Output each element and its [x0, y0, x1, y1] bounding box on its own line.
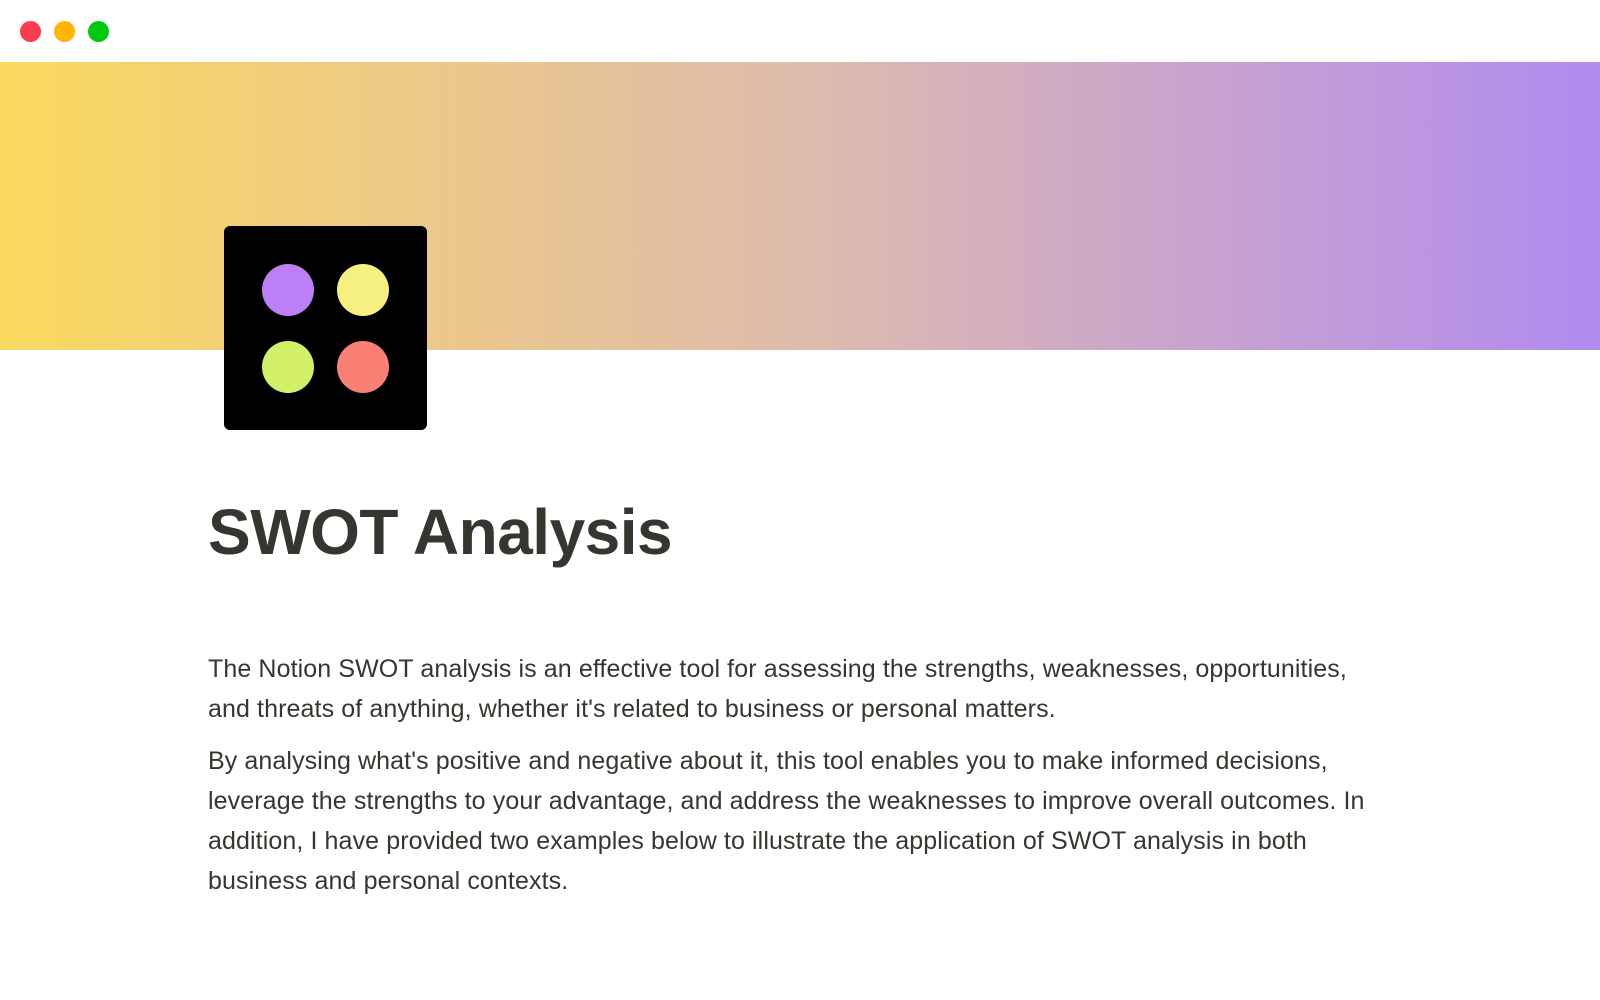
icon-bubble-purple — [262, 264, 314, 316]
icon-bubble-salmon — [337, 341, 389, 393]
page-paragraphs: The Notion SWOT analysis is an effective… — [208, 649, 1408, 901]
window-titlebar — [0, 0, 1600, 62]
paragraph-block[interactable]: The Notion SWOT analysis is an effective… — [208, 649, 1368, 729]
page-body: SWOT Analysis The Notion SWOT analysis i… — [0, 350, 1600, 1000]
close-button[interactable] — [20, 21, 41, 42]
icon-bubble-lime — [262, 341, 314, 393]
minimize-button[interactable] — [54, 21, 75, 42]
page-icon[interactable] — [224, 226, 427, 430]
page-title[interactable]: SWOT Analysis — [208, 497, 1408, 567]
paragraph-block[interactable]: By analysing what's positive and negativ… — [208, 741, 1368, 901]
maximize-button[interactable] — [88, 21, 109, 42]
app-window: SWOT Analysis The Notion SWOT analysis i… — [0, 0, 1600, 1000]
icon-bubble-yellow — [337, 264, 389, 316]
page-content: SWOT Analysis The Notion SWOT analysis i… — [208, 497, 1408, 901]
traffic-light-controls — [20, 21, 109, 42]
